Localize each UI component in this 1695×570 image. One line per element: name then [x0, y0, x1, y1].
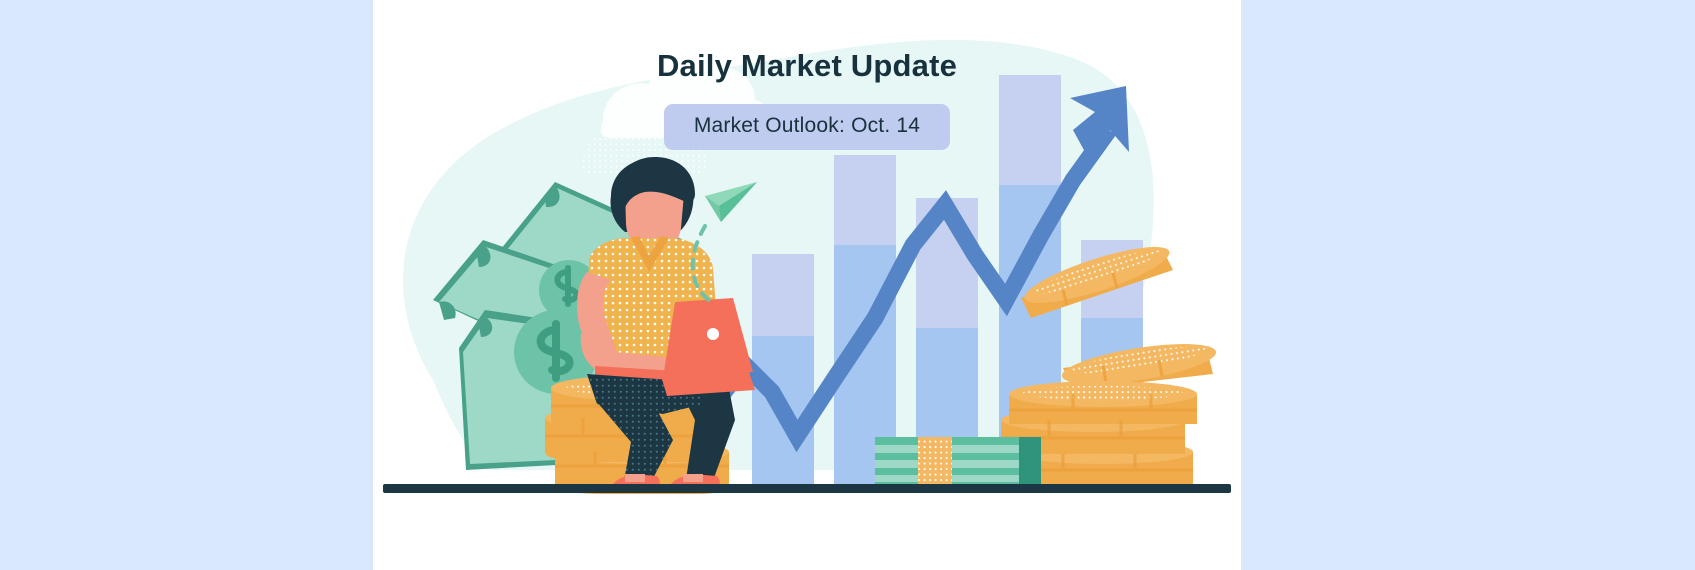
card-inner: Daily Market Update Market Outlook: Oct.…	[373, 0, 1241, 570]
market-update-card: Daily Market Update Market Outlook: Oct.…	[373, 0, 1241, 570]
market-growth-illustration	[373, 0, 1241, 570]
laptop-logo	[707, 328, 719, 340]
market-outlook-badge[interactable]: Market Outlook: Oct. 14	[664, 104, 950, 150]
page-title: Daily Market Update	[373, 48, 1241, 84]
screenshot-root: Daily Market Update Market Outlook: Oct.…	[0, 0, 1695, 570]
badge-container: Market Outlook: Oct. 14	[373, 104, 1241, 150]
ground-line	[383, 484, 1231, 493]
bill-edge	[1019, 437, 1041, 488]
bill-bundle	[875, 437, 1041, 488]
